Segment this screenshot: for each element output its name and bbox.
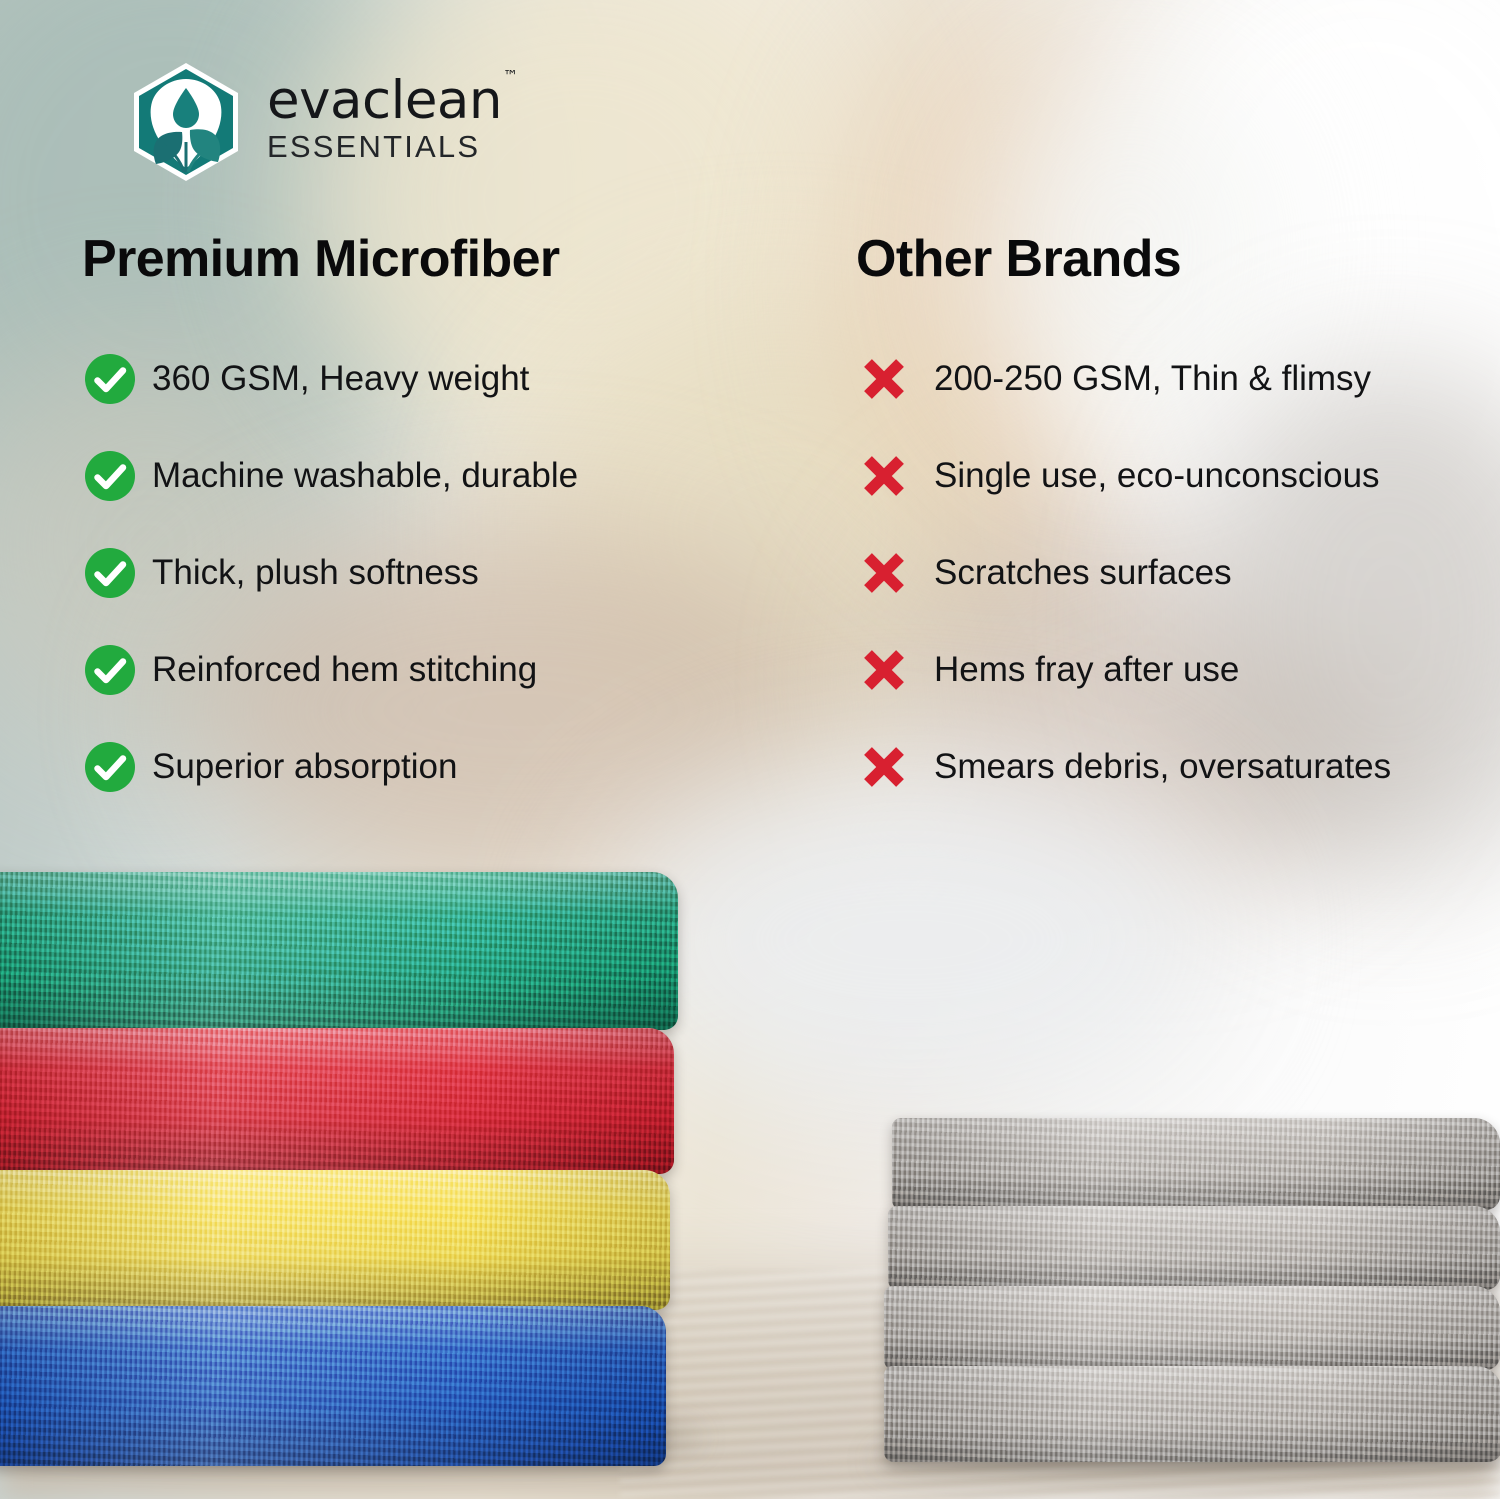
towel-red	[0, 1028, 674, 1174]
towel-gray-2	[888, 1206, 1500, 1290]
list-item-label: Single use, eco-unconscious	[934, 456, 1380, 495]
green-check-circle-icon	[82, 545, 138, 601]
list-item-label: Smears debris, oversaturates	[934, 747, 1391, 786]
list-item: Smears debris, oversaturates	[856, 739, 1486, 795]
list-item-label: Reinforced hem stitching	[152, 650, 537, 689]
left-feature-list: 360 GSM, Heavy weight Machine washable, …	[82, 351, 782, 795]
list-item: 360 GSM, Heavy weight	[82, 351, 782, 407]
towel-gray-1	[892, 1118, 1500, 1210]
towel-yellow	[0, 1170, 670, 1310]
towel-gray-4	[884, 1366, 1500, 1462]
list-item-label: Hems fray after use	[934, 650, 1239, 689]
green-check-circle-icon	[82, 351, 138, 407]
list-item-label: 360 GSM, Heavy weight	[152, 359, 529, 398]
list-item: Single use, eco-unconscious	[856, 448, 1486, 504]
green-check-circle-icon	[82, 739, 138, 795]
list-item-label: Thick, plush softness	[152, 553, 479, 592]
right-column-title: Other Brands	[856, 232, 1486, 287]
towel-green	[0, 872, 678, 1030]
green-check-circle-icon	[82, 642, 138, 698]
premium-microfiber-towel-stack	[0, 872, 688, 1432]
brand-wordmark: evaclean™	[267, 75, 517, 127]
right-drawback-list: 200-250 GSM, Thin & flimsy Single use, e…	[856, 351, 1486, 795]
list-item: Reinforced hem stitching	[82, 642, 782, 698]
brand-wordmark-text: evaclean	[267, 70, 502, 131]
list-item: Hems fray after use	[856, 642, 1486, 698]
red-x-icon	[856, 545, 912, 601]
brand-logo: evaclean™ ESSENTIALS	[124, 60, 517, 184]
trademark-symbol: ™	[503, 67, 518, 85]
list-item: Thick, plush softness	[82, 545, 782, 601]
product-comparison-infographic: evaclean™ ESSENTIALS Premium Microfiber …	[0, 0, 1500, 1499]
hexagon-leaf-droplet-logo-icon	[124, 60, 248, 184]
list-item: Machine washable, durable	[82, 448, 782, 504]
list-item-label: Superior absorption	[152, 747, 457, 786]
list-item-label: Machine washable, durable	[152, 456, 578, 495]
premium-microfiber-column: Premium Microfiber 360 GSM, Heavy weight	[82, 232, 782, 836]
towel-gray-3	[884, 1286, 1500, 1370]
red-x-icon	[856, 642, 912, 698]
other-brand-towel-stack	[884, 1118, 1500, 1458]
towel-blue	[0, 1306, 666, 1466]
brand-tagline: ESSENTIALS	[267, 129, 517, 165]
red-x-icon	[856, 448, 912, 504]
other-brands-column: Other Brands 200-250 GSM, Thin & flimsy …	[856, 232, 1486, 836]
green-check-circle-icon	[82, 448, 138, 504]
red-x-icon	[856, 739, 912, 795]
list-item: Superior absorption	[82, 739, 782, 795]
list-item-label: Scratches surfaces	[934, 553, 1232, 592]
left-column-title: Premium Microfiber	[82, 232, 782, 287]
list-item: 200-250 GSM, Thin & flimsy	[856, 351, 1486, 407]
brand-wordmark-block: evaclean™ ESSENTIALS	[267, 75, 517, 170]
red-x-icon	[856, 351, 912, 407]
list-item-label: 200-250 GSM, Thin & flimsy	[934, 359, 1371, 398]
list-item: Scratches surfaces	[856, 545, 1486, 601]
